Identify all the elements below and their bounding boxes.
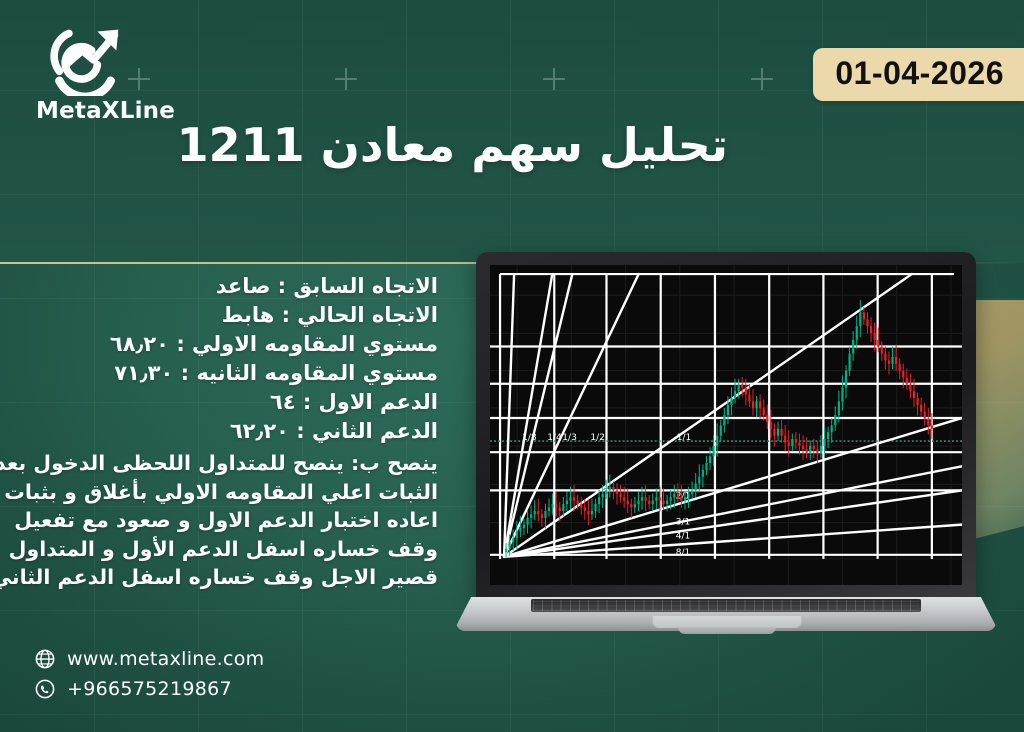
analysis-line-resistance-1: مستوي المقاومه الاولي : ٦٨٫٢٠ [18, 330, 438, 359]
recommendation-text: ينصح ب: ينصح للمتداول اللحظى الدخول بعد … [18, 449, 438, 592]
date-badge: 01-04-2026 [813, 48, 1024, 101]
analysis-panel: الاتجاه السابق : صاعد الاتجاه الحالي : ه… [18, 272, 438, 592]
gann-label-1-4: 1/4 [547, 433, 562, 443]
footer-contact: www.metaxline.com +966575219867 [34, 648, 264, 708]
gann-label-8-1: 8/1 [676, 548, 691, 558]
footer-phone-row[interactable]: +966575219867 [34, 678, 264, 700]
metaxline-arc-arrow-logo-icon [38, 22, 134, 96]
globe-icon [34, 648, 56, 670]
footer-website-row[interactable]: www.metaxline.com [34, 648, 264, 670]
page-title: تحليل سهم معادن 1211 [177, 118, 728, 172]
laptop-screen[interactable]: 1/8 1/4 1/3 1/2 1/1 2/1 3/1 4/1 8/1 [490, 265, 962, 585]
chart-background [490, 265, 962, 585]
grid-cross-marker [335, 68, 357, 90]
recommendation-line: الثبات اعلي المقاومه الاولي بأغلاق و بثب… [18, 478, 438, 507]
gann-label-1-2: 1/2 [590, 433, 605, 443]
analysis-line-support-1: الدعم الاول : ٦٤ [18, 388, 438, 417]
gann-fan-candlestick-chart[interactable]: 1/8 1/4 1/3 1/2 1/1 2/1 3/1 4/1 8/1 [490, 265, 962, 585]
recommendation-line: قصير الاجل وقف خساره اسفل الدعم الثاني [18, 563, 438, 592]
whatsapp-icon [34, 678, 56, 700]
analysis-line-support-2: الدعم الثاني : ٦٢٫٢٠ [18, 417, 438, 446]
gann-label-3-1: 3/1 [676, 518, 691, 528]
laptop-lid-notch [678, 627, 776, 634]
laptop-keyboard[interactable] [531, 599, 921, 612]
recommendation-line: وقف خساره اسفل الدعم الأول و المتداول [18, 535, 438, 564]
analysis-line-resistance-2: مستوي المقاومه الثانيه : ٧١٫٣٠ [18, 359, 438, 388]
website-text: www.metaxline.com [67, 648, 264, 670]
brand-name: MetaXLine [36, 98, 174, 124]
laptop-lid: 1/8 1/4 1/3 1/2 1/1 2/1 3/1 4/1 8/1 [476, 252, 976, 600]
poster-canvas: MetaXLine 01-04-2026 تحليل سهم معادن 121… [0, 0, 1024, 732]
recommendation-line: اعاده اختبار الدعم الاول و صعود مع تفعيل [18, 506, 438, 535]
grid-cross-marker [751, 68, 773, 90]
gann-label-1-1: 1/1 [677, 433, 692, 443]
phone-text: +966575219867 [67, 678, 232, 700]
analysis-line-previous-trend: الاتجاه السابق : صاعد [18, 272, 438, 301]
analysis-line-current-trend: الاتجاه الحالي : هابط [18, 301, 438, 330]
gann-label-1-8: 1/8 [522, 433, 537, 443]
brand-logo[interactable]: MetaXLine [34, 22, 174, 124]
laptop-mockup: 1/8 1/4 1/3 1/2 1/1 2/1 3/1 4/1 8/1 [456, 252, 996, 652]
gann-label-1-3: 1/3 [562, 433, 577, 443]
recommendation-line: ينصح ب: ينصح للمتداول اللحظى الدخول بعد [18, 449, 438, 478]
grid-cross-marker [543, 68, 565, 90]
gann-label-4-1: 4/1 [676, 532, 691, 542]
